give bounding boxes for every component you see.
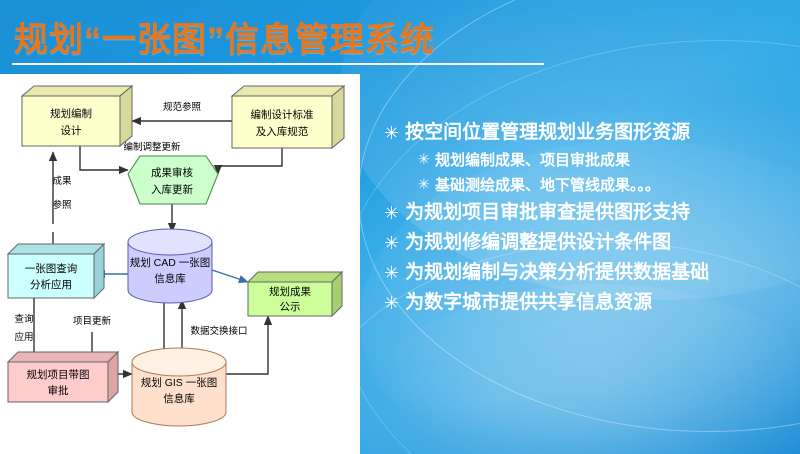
- node-project-approval-label-1: 规划项目带图: [27, 368, 90, 381]
- edge-std-to-review-line: [218, 148, 282, 174]
- edge-gis-to-result-line: [226, 316, 268, 374]
- node-design-standard: 编制设计标准 及入库规范: [232, 86, 344, 148]
- node-gis-database: 规划 GIS 一张图 信息库: [132, 348, 226, 426]
- asterisk-icon: ✳: [384, 288, 399, 318]
- edge-result-reference-label-2: 参照: [52, 199, 72, 211]
- bullet-item-5: ✳ 为规划修编调整提供设计条件图: [384, 228, 792, 258]
- bullet-item-5-text: 为规划修编调整提供设计条件图: [405, 228, 671, 258]
- asterisk-icon: ✳: [384, 198, 399, 228]
- edge-cad-to-result-line: [212, 270, 248, 282]
- bullet-item-1: ✳ 按空间位置管理规划业务图形资源: [384, 118, 792, 148]
- node-project-approval-label-2: 审批: [48, 384, 69, 397]
- node-gis-database-label-1: 规划 GIS 一张图: [141, 376, 217, 389]
- node-gis-database-label-2: 信息库: [163, 392, 195, 405]
- node-plan-design-label-1: 规划编制: [50, 107, 92, 120]
- asterisk-icon: ✳: [418, 173, 430, 198]
- node-cad-database-label-2: 信息库: [154, 272, 186, 285]
- edge-compile-adjust-update-label: 编制调整更新: [123, 141, 181, 153]
- page-title: 规划“一张图”信息管理系统: [14, 12, 435, 61]
- node-result-review-label-2: 入库更新: [151, 183, 193, 196]
- bullet-item-2-text: 规划编制成果、项目审批成果: [435, 148, 630, 173]
- asterisk-icon: ✳: [384, 258, 399, 288]
- bullet-item-4: ✳ 为规划项目审批审查提供图形支持: [384, 198, 792, 228]
- bullet-list: ✳ 按空间位置管理规划业务图形资源 ✳ 规划编制成果、项目审批成果 ✳ 基础测绘…: [380, 118, 792, 318]
- asterisk-icon: ✳: [384, 118, 399, 148]
- node-result-review-label-1: 成果审核: [151, 166, 193, 179]
- edge-result-reference-label-1: 成果: [52, 175, 72, 187]
- node-plan-result-publicity: 规划成果 公示: [248, 272, 342, 316]
- node-onemap-query-label-1: 一张图查询: [25, 262, 78, 275]
- bullet-item-6: ✳ 为规划编制与决策分析提供数据基础: [384, 258, 792, 288]
- asterisk-icon: ✳: [418, 148, 430, 173]
- node-onemap-query-label-2: 分析应用: [30, 278, 72, 291]
- bullet-item-1-text: 按空间位置管理规划业务图形资源: [405, 118, 690, 148]
- title-bar: 规划“一张图”信息管理系统: [0, 0, 800, 74]
- node-design-standard-label-1: 编制设计标准: [251, 108, 314, 121]
- node-cad-database: 规划 CAD 一张图 信息库: [128, 229, 212, 303]
- edge-data-exchange-interface-label: 数据交换接口: [190, 325, 247, 337]
- node-plan-result-label-2: 公示: [280, 301, 301, 313]
- edge-project-update-label: 项目更新: [73, 315, 112, 327]
- node-plan-design: 规划编制 设计: [22, 86, 132, 146]
- node-cad-database-label-1: 规划 CAD 一张图: [130, 256, 211, 269]
- system-architecture-diagram: 规范参照 编制调整更新 成果 参照 数据交换接口 查询 应用: [0, 74, 360, 454]
- node-onemap-query: 一张图查询 分析应用: [8, 244, 104, 298]
- bullet-item-6-text: 为规划编制与决策分析提供数据基础: [405, 258, 709, 288]
- bullet-item-7: ✳ 为数字城市提供共享信息资源: [384, 288, 792, 318]
- slide-canvas: 规划“一张图”信息管理系统 规范参照 编制调整更新: [0, 0, 800, 454]
- bullet-item-4-text: 为规划项目审批审查提供图形支持: [405, 198, 690, 228]
- node-design-standard-label-2: 及入库规范: [256, 125, 309, 138]
- node-result-review: 成果审核 入库更新: [128, 156, 218, 204]
- title-underline: [12, 63, 544, 65]
- node-plan-design-label-2: 设计: [61, 124, 82, 137]
- bullet-item-3: ✳ 基础测绘成果、地下管线成果。。。: [418, 173, 792, 198]
- bullet-item-7-text: 为数字城市提供共享信息资源: [405, 288, 652, 318]
- node-project-approval: 规划项目带图 审批: [8, 352, 118, 402]
- edge-query-label-2: 应用: [14, 331, 33, 343]
- node-plan-result-label-1: 规划成果: [269, 285, 311, 298]
- edge-standard-reference-label: 规范参照: [163, 101, 202, 113]
- edge-query-label-1: 查询: [14, 313, 33, 325]
- bullet-item-3-text: 基础测绘成果、地下管线成果。。。: [435, 173, 660, 198]
- edge-compile-adjust-update-line: [80, 146, 128, 170]
- asterisk-icon: ✳: [384, 228, 399, 258]
- bullet-item-2: ✳ 规划编制成果、项目审批成果: [418, 148, 792, 173]
